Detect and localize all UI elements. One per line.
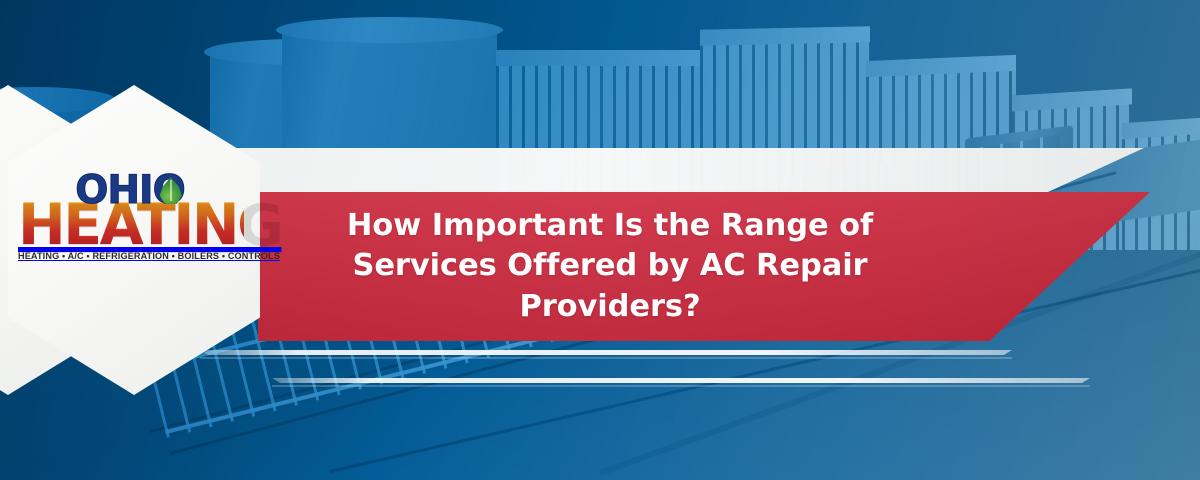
- accent-rule: [200, 350, 1012, 355]
- logo-tagline: HEATING • A/C • REFRIGERATION • BOILERS …: [18, 251, 244, 261]
- brand-logo[interactable]: OHIO HEATING HEATING • A/C • REFRIGERATI…: [18, 172, 244, 284]
- accent-rule-shadow: [200, 357, 1012, 359]
- white-ribbon: [232, 148, 1144, 194]
- logo-brand-top: OHIO: [75, 172, 186, 209]
- accent-rule: [272, 378, 1090, 383]
- page-banner: How Important Is the Range of Services O…: [0, 0, 1200, 480]
- accent-rule-shadow: [272, 385, 1090, 387]
- page-title: How Important Is the Range of Services O…: [300, 192, 920, 341]
